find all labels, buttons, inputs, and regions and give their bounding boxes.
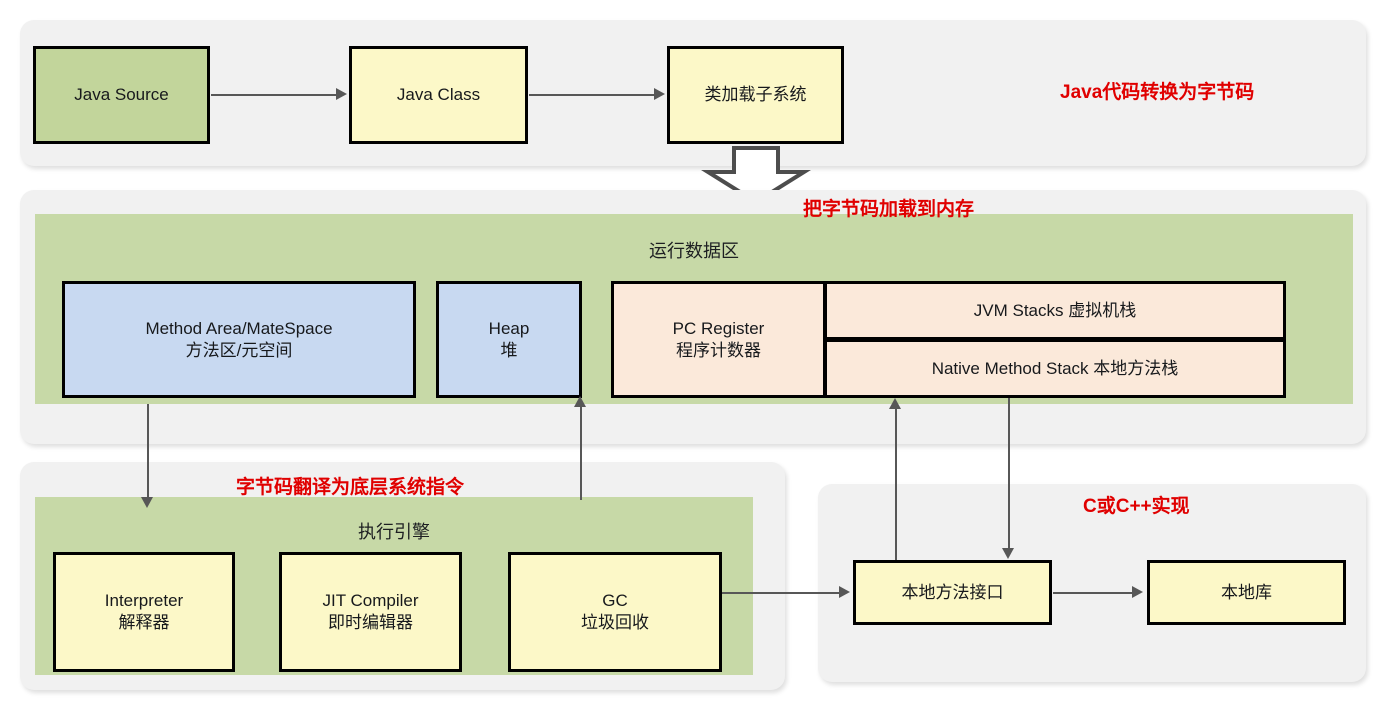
connector-class-to-loader [529, 94, 655, 96]
annotation-bytecode-to-instructions: 字节码翻译为底层系统指令 [236, 472, 464, 499]
arrowhead-right-icon [839, 586, 850, 598]
node-label: GC [602, 590, 628, 612]
node-gc[interactable]: GC 垃圾回收 [508, 552, 722, 672]
connector-engine-to-heap [580, 404, 582, 500]
connector-methodarea-to-engine [147, 404, 149, 500]
node-label-secondary: 即时编辑器 [328, 612, 413, 634]
node-label: Heap [489, 318, 530, 340]
node-label: Interpreter [105, 590, 183, 612]
node-label: Method Area/MateSpace [145, 318, 332, 340]
node-native-method-stack[interactable]: Native Method Stack 本地方法栈 [824, 339, 1286, 398]
node-label: JIT Compiler [322, 590, 418, 612]
arrowhead-right-icon [1132, 586, 1143, 598]
node-label: Java Source [74, 84, 169, 106]
connector-gc-to-native-interface [722, 592, 840, 594]
jvm-architecture-diagram: Java Source Java Class 类加载子系统 Java代码转换为字… [0, 0, 1400, 706]
connector-interface-to-library [1053, 592, 1133, 594]
node-label-secondary: 垃圾回收 [581, 612, 649, 634]
connector-nativestack-to-interface [1008, 398, 1010, 550]
node-label: Java Class [397, 84, 480, 106]
node-label-secondary: 程序计数器 [676, 340, 761, 362]
node-java-source[interactable]: Java Source [33, 46, 210, 144]
node-label-secondary: 解释器 [119, 612, 170, 634]
annotation-c-cpp-implementation: C或C++实现 [1083, 491, 1190, 518]
node-label: Native Method Stack 本地方法栈 [932, 358, 1179, 380]
arrowhead-right-icon [654, 88, 665, 100]
execution-engine-caption: 执行引擎 [35, 518, 753, 544]
node-jit-compiler[interactable]: JIT Compiler 即时编辑器 [279, 552, 462, 672]
node-native-method-interface[interactable]: 本地方法接口 [853, 560, 1052, 625]
arrowhead-up-icon [889, 398, 901, 409]
node-interpreter[interactable]: Interpreter 解释器 [53, 552, 235, 672]
node-label: JVM Stacks 虚拟机栈 [974, 300, 1136, 322]
node-java-class[interactable]: Java Class [349, 46, 528, 144]
annotation-load-bytecode-to-memory: 把字节码加载到内存 [803, 194, 974, 221]
node-method-area[interactable]: Method Area/MateSpace 方法区/元空间 [62, 281, 416, 398]
node-heap[interactable]: Heap 堆 [436, 281, 582, 398]
node-label-secondary: 方法区/元空间 [186, 340, 293, 362]
node-label: 类加载子系统 [705, 84, 807, 106]
node-jvm-stacks[interactable]: JVM Stacks 虚拟机栈 [824, 281, 1286, 340]
arrowhead-up-icon [574, 396, 586, 407]
node-label: PC Register [673, 318, 765, 340]
node-pc-register[interactable]: PC Register 程序计数器 [611, 281, 826, 398]
node-label: 本地库 [1221, 582, 1272, 604]
arrowhead-down-icon [141, 497, 153, 508]
node-native-library[interactable]: 本地库 [1147, 560, 1346, 625]
arrowhead-right-icon [336, 88, 347, 100]
connector-source-to-class [211, 94, 338, 96]
arrowhead-down-icon [1002, 548, 1014, 559]
node-label-secondary: 堆 [501, 340, 518, 362]
connector-nativeinterface-to-stack [895, 406, 897, 560]
node-class-loader-subsystem[interactable]: 类加载子系统 [667, 46, 844, 144]
runtime-data-area-caption: 运行数据区 [35, 237, 1353, 263]
annotation-java-to-bytecode: Java代码转换为字节码 [1060, 77, 1254, 104]
node-label: 本地方法接口 [902, 582, 1004, 604]
